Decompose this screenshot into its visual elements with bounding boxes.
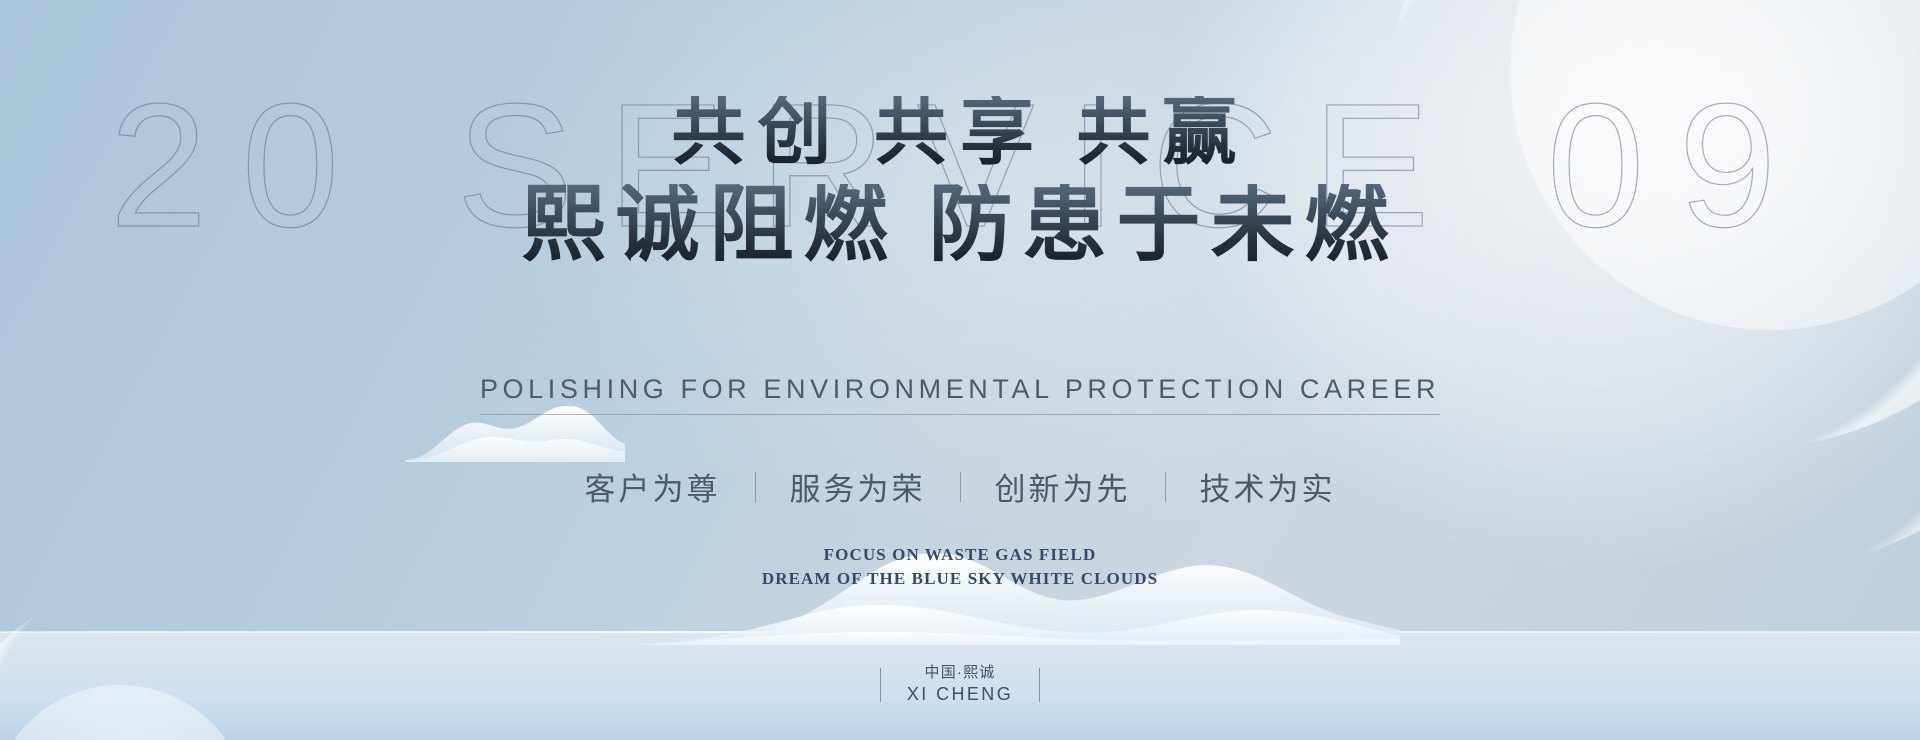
strapline-wrap: POLISHING FOR ENVIRONMENTAL PROTECTION C…	[0, 374, 1920, 415]
hero-banner: 20 SERVICE 09	[0, 0, 1920, 740]
slogan-item-4: 技术为实	[1166, 464, 1370, 509]
slogan-row: 客户为尊 服务为荣 创新为先 技术为实	[0, 464, 1920, 509]
slogan-item-2: 服务为荣	[756, 464, 960, 509]
brand-name-cn: 中国·熙诚	[907, 663, 1013, 683]
slogan-item-1: 客户为尊	[551, 464, 755, 509]
micro-line-1: FOCUS ON WASTE GAS FIELD	[0, 545, 1920, 565]
headline-line-2: 熙诚阻燃 防患于未燃	[0, 184, 1920, 268]
brand-footer: 中国·熙诚 XI CHENG	[0, 663, 1920, 707]
brand-bar-left	[880, 668, 881, 702]
headline-line-1: 共创 共享 共赢	[0, 96, 1920, 170]
strapline: POLISHING FOR ENVIRONMENTAL PROTECTION C…	[480, 374, 1440, 415]
brand-words: 中国·熙诚 XI CHENG	[907, 663, 1013, 707]
brand-name-en: XI CHENG	[907, 683, 1013, 707]
micro-line-2: DREAM OF THE BLUE SKY WHITE CLOUDS	[0, 569, 1920, 589]
slogan-item-3: 创新为先	[961, 464, 1165, 509]
brand-bar-right	[1039, 668, 1040, 702]
